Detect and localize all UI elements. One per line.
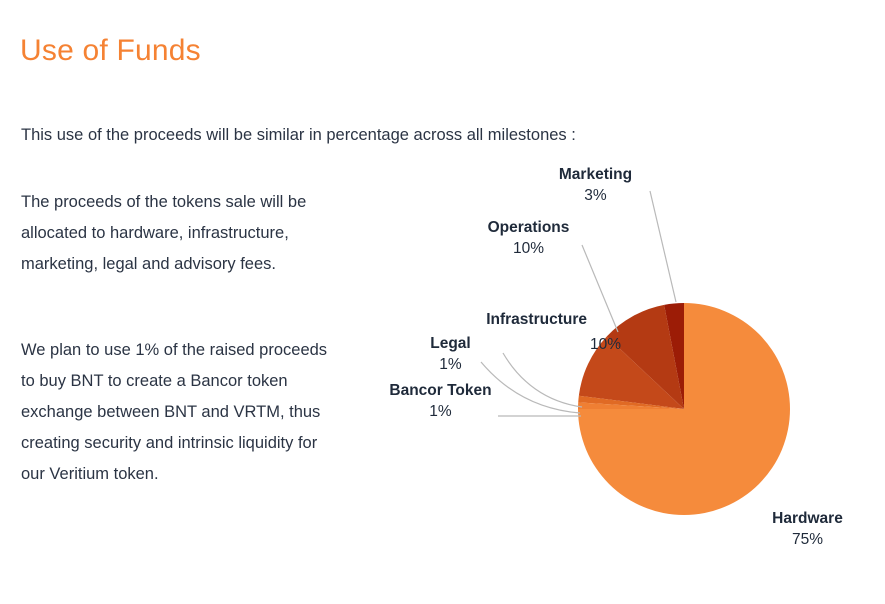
leader-line-marketing xyxy=(650,191,676,302)
pie-label-legal-value: 1% xyxy=(398,354,503,376)
pie-label-hardware-value: 75% xyxy=(735,529,880,551)
body-paragraph-allocation: The proceeds of the tokens sale will be … xyxy=(21,187,333,280)
pie-label-bancor-token-value: 1% xyxy=(368,401,513,423)
slide-canvas: Use of Funds This use of the proceeds wi… xyxy=(0,0,885,604)
page-title: Use of Funds xyxy=(20,34,201,68)
pie-label-marketing-name: Marketing xyxy=(523,165,668,185)
pie-label-hardware-name: Hardware xyxy=(735,509,880,529)
body-paragraph-bancor: We plan to use 1% of the raised proceeds… xyxy=(21,335,333,490)
pie-label-infrastructure-name: Infrastructure xyxy=(452,310,587,330)
pie-label-bancor-token-name: Bancor Token xyxy=(368,381,513,401)
intro-paragraph: This use of the proceeds will be similar… xyxy=(21,123,576,147)
pie-label-hardware: Hardware 75% xyxy=(735,509,880,551)
pie-label-marketing: Marketing 3% xyxy=(523,165,668,207)
leader-line-infrastructure xyxy=(503,353,582,407)
pie-label-infrastructure: Infrastructure 10% xyxy=(452,310,587,330)
pie-label-legal-name: Legal xyxy=(398,334,503,354)
pie-label-bancor-token: Bancor Token 1% xyxy=(368,381,513,423)
pie-label-operations-value: 10% xyxy=(456,238,601,260)
pie-label-operations: Operations 10% xyxy=(456,218,601,260)
pie-label-infrastructure-value: 10% xyxy=(590,334,636,356)
pie-label-marketing-value: 3% xyxy=(523,185,668,207)
pie-label-operations-name: Operations xyxy=(456,218,601,238)
pie-label-legal: Legal 1% xyxy=(398,334,503,376)
